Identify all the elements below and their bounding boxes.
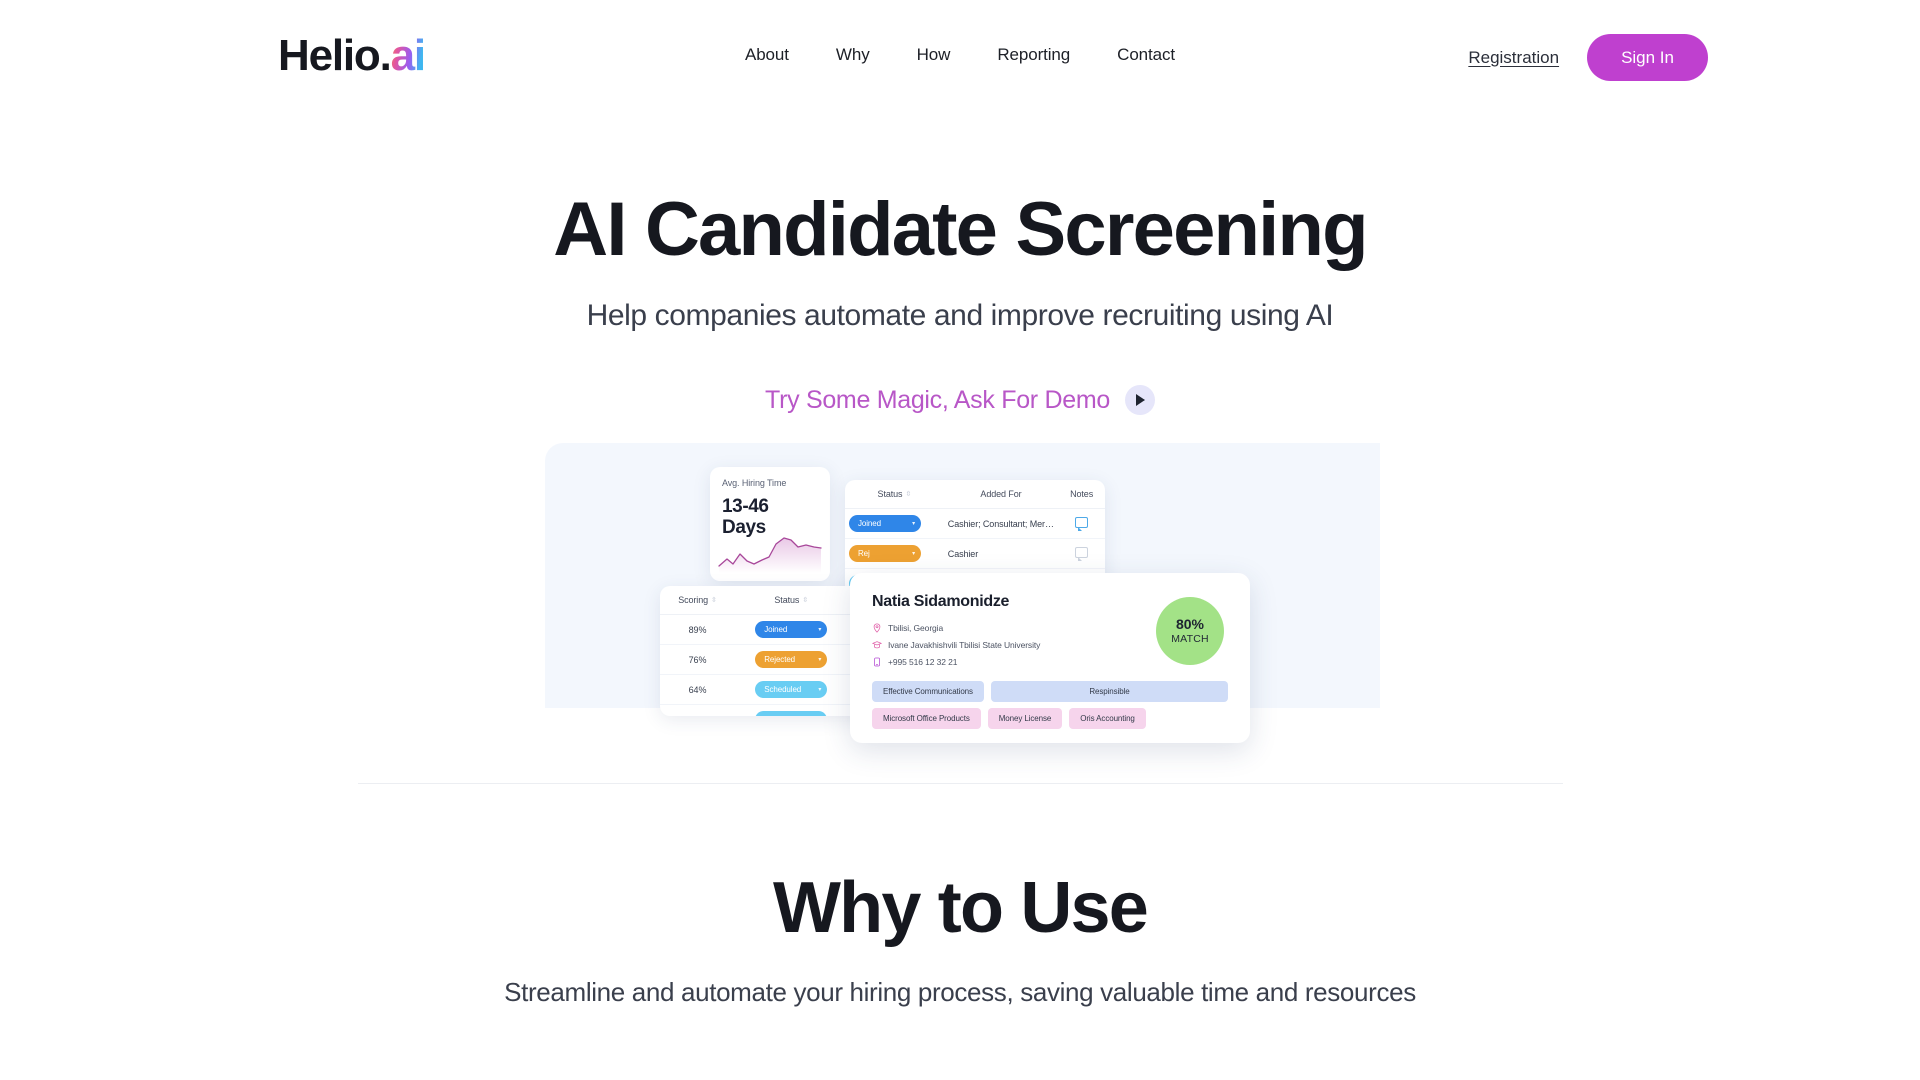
match-score-badge: 80% MATCH — [1156, 597, 1224, 665]
chevron-down-icon: ▾ — [818, 686, 821, 693]
site-header: Helio.ai About Why How Reporting Contact… — [0, 0, 1920, 120]
nav-item-about[interactable]: About — [745, 45, 789, 65]
candidate-location: Tbilisi, Georgia — [888, 623, 943, 633]
nav-item-why[interactable]: Why — [836, 45, 870, 65]
play-icon[interactable] — [1125, 385, 1155, 415]
status-cell[interactable]: Rejected▾ — [735, 645, 848, 675]
hero-subtitle: Help companies automate and improve recr… — [0, 299, 1920, 333]
status-cell[interactable]: Joined▾ — [735, 615, 848, 645]
added-for-cell: Cashier; Consultant; Merchen... — [944, 509, 1058, 539]
graduation-cap-icon — [872, 640, 882, 650]
status-cell[interactable]: Rej▾ — [845, 539, 944, 569]
notes-cell[interactable] — [1058, 539, 1105, 569]
sort-icon[interactable]: ⇳ — [802, 597, 808, 604]
nav-item-how[interactable]: How — [917, 45, 951, 65]
tag-oris-accounting[interactable]: Oris Accounting — [1069, 708, 1146, 729]
chevron-down-icon: ▾ — [912, 550, 915, 557]
candidate-phone: +995 516 12 32 21 — [888, 657, 957, 667]
demo-cta-label[interactable]: Try Some Magic, Ask For Demo — [765, 386, 1110, 415]
tag-effective-communications[interactable]: Effective Communications — [872, 681, 984, 702]
scoring-cell: 64% — [660, 675, 735, 705]
column-header-scoring[interactable]: Scoring⇳ — [660, 586, 735, 615]
notes-cell[interactable] — [1058, 509, 1105, 539]
match-label: MATCH — [1171, 633, 1209, 645]
note-icon[interactable] — [1075, 547, 1088, 558]
sort-icon[interactable]: ⇳ — [711, 597, 717, 604]
column-header-added-for: Added For — [944, 480, 1058, 509]
scoring-cell: 89% — [660, 615, 735, 645]
avg-hiring-time-card: Avg. Hiring Time 13-46 Days — [710, 467, 830, 581]
sparkline-chart — [718, 533, 822, 573]
status-badge[interactable]: Rejected▾ — [755, 651, 827, 668]
candidate-education: Ivane Javakhishvili Tbilisi State Univer… — [888, 640, 1040, 650]
candidate-card: Natia Sidamonidze Tbilisi, Georgia I — [850, 573, 1250, 743]
scoring-cell: 76% — [660, 645, 735, 675]
hero-illustration: Avg. Hiring Time 13-46 Days — [545, 443, 1380, 708]
status-cell[interactable]: Joined▾ — [845, 509, 944, 539]
tag-row-soft-skills: Effective Communications Respinsible — [872, 681, 1228, 702]
status-cell[interactable]: Scheduled▾ — [735, 675, 848, 705]
table-row[interactable]: Joined▾ Cashier; Consultant; Merchen... — [845, 509, 1105, 539]
play-triangle — [1136, 394, 1145, 406]
header-actions: Registration Sign In — [1468, 34, 1708, 81]
status-badge[interactable]: Joined▾ — [849, 515, 921, 532]
avg-hiring-time-label: Avg. Hiring Time — [722, 478, 818, 488]
avg-hiring-time-value: 13-46 — [722, 496, 818, 517]
status-badge[interactable]: Joined▾ — [755, 621, 827, 638]
status-badge[interactable]: Scheduled▾ — [755, 711, 827, 716]
registration-link[interactable]: Registration — [1468, 48, 1559, 68]
column-header-status[interactable]: Status⇳ — [845, 480, 944, 509]
table-row[interactable]: Rej▾ Cashier — [845, 539, 1105, 569]
tag-money-license[interactable]: Money License — [988, 708, 1063, 729]
note-icon[interactable] — [1075, 517, 1088, 528]
tag-row-hard-skills: Microsoft Office Products Money License … — [872, 708, 1228, 729]
status-badge[interactable]: Rej▾ — [849, 545, 921, 562]
column-header-status[interactable]: Status⇳ — [735, 586, 848, 615]
nav-item-contact[interactable]: Contact — [1117, 45, 1175, 65]
tag-microsoft-office-products[interactable]: Microsoft Office Products — [872, 708, 981, 729]
sort-icon[interactable]: ⇳ — [905, 491, 911, 498]
chevron-down-icon: ▾ — [818, 626, 821, 633]
hero-cta[interactable]: Try Some Magic, Ask For Demo — [0, 385, 1920, 415]
status-cell[interactable]: Scheduled▾ — [735, 705, 848, 717]
sign-in-button[interactable]: Sign In — [1587, 34, 1708, 81]
added-for-cell: Cashier — [944, 539, 1058, 569]
match-percent: 80% — [1176, 617, 1204, 632]
why-section-title: Why to Use — [0, 871, 1920, 947]
section-divider — [358, 783, 1563, 784]
status-badge[interactable]: Scheduled▾ — [755, 681, 827, 698]
chevron-down-icon: ▾ — [912, 520, 915, 527]
candidate-tags: Effective Communications Respinsible Mic… — [872, 675, 1228, 729]
location-pin-icon — [872, 623, 882, 633]
scoring-cell: 25% — [660, 705, 735, 717]
phone-icon — [872, 657, 882, 667]
landing-page: Helio.ai About Why How Reporting Contact… — [0, 0, 1920, 1080]
hero-title: AI Candidate Screening — [0, 190, 1920, 270]
nav-item-reporting[interactable]: Reporting — [997, 45, 1070, 65]
why-section-subtitle: Streamline and automate your hiring proc… — [0, 977, 1920, 1008]
tag-responsible[interactable]: Respinsible — [991, 681, 1228, 702]
column-header-notes: Notes — [1058, 480, 1105, 509]
table-header-row: Status⇳ Added For Notes — [845, 480, 1105, 509]
chevron-down-icon: ▾ — [818, 656, 821, 663]
